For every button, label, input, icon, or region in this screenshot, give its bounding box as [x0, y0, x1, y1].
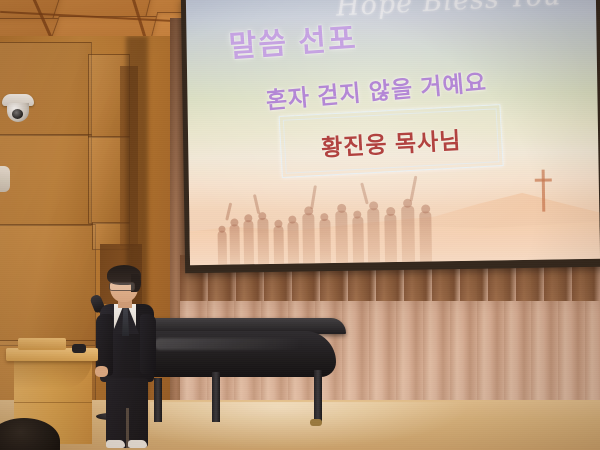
- piano-leg: [314, 370, 322, 422]
- right-arm: [140, 314, 156, 374]
- photo-scene: Hope Bless You 말씀 선포 혼자 걷지 않을 거예요 황진웅 목사…: [0, 0, 600, 450]
- piano-caster: [310, 419, 322, 426]
- shoe: [128, 440, 147, 448]
- podium-ledge: [18, 338, 66, 350]
- slide-heading: 말씀 선포: [227, 13, 358, 66]
- podium-seam: [14, 402, 92, 403]
- speaker-name-box: 황진웅 목사님: [279, 104, 504, 178]
- piano-leg: [212, 372, 220, 422]
- glasses-icon: [109, 282, 135, 291]
- shoe: [106, 440, 125, 448]
- grand-piano: [138, 318, 353, 428]
- wall-speaker-icon: [0, 166, 10, 192]
- screen-surface: Hope Bless You 말씀 선포 혼자 걷지 않을 거예요 황진웅 목사…: [186, 0, 600, 265]
- cctv-camera-icon: [2, 94, 36, 128]
- podium-object: [72, 344, 86, 353]
- piano-highlight: [154, 338, 304, 350]
- projection-screen: Hope Bless You 말씀 선포 혼자 걷지 않을 거예요 황진웅 목사…: [181, 0, 600, 273]
- pastor-speaking: [86, 262, 170, 448]
